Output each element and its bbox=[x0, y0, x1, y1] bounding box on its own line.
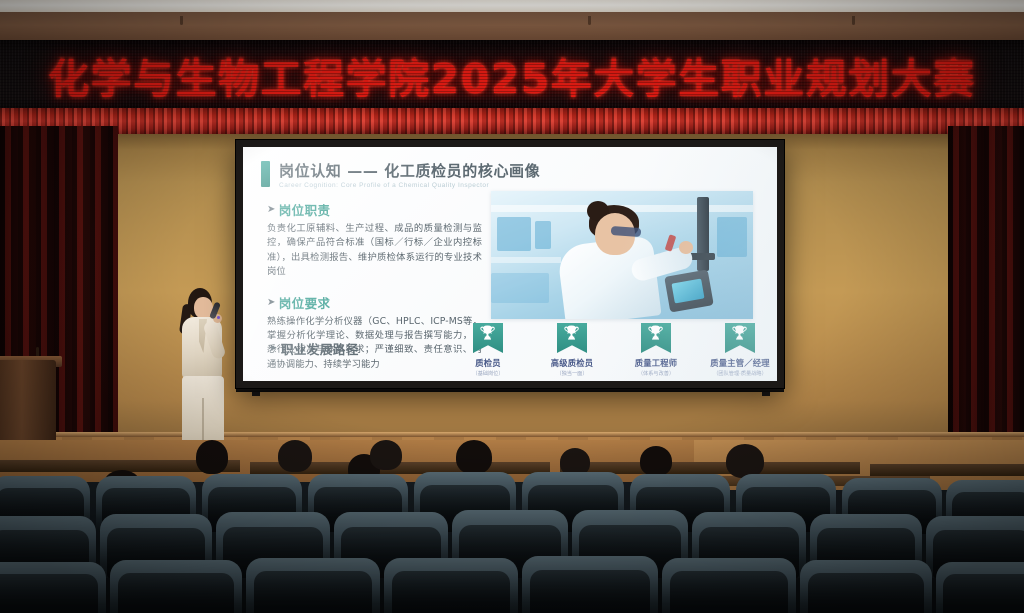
bullet-arrow-icon: ➤ bbox=[267, 297, 276, 308]
audience-seat bbox=[522, 556, 658, 613]
trophy-icon bbox=[725, 323, 755, 353]
career-stage: 高级质检员 （独当一面） bbox=[541, 323, 603, 377]
fascia-bolt bbox=[852, 16, 855, 25]
career-stage: 质量工程师 （体系与改善） bbox=[625, 323, 687, 377]
slide-header: 岗位认知 —— 化工质检员的核心画像 Career Cognition: Cor… bbox=[261, 160, 540, 189]
audience-seat bbox=[936, 562, 1024, 613]
audience-seat bbox=[246, 558, 380, 613]
audience-seat bbox=[662, 558, 796, 613]
audience-desk bbox=[870, 464, 1024, 476]
career-stage-label: 质检员 bbox=[457, 357, 519, 369]
banner-title: 化学与生物工程学院2025年大学生职业规划大赛 bbox=[0, 45, 1024, 105]
career-path-label: 职业发展路径 bbox=[281, 339, 359, 358]
audience-seat bbox=[110, 560, 242, 613]
audience-head bbox=[456, 440, 492, 474]
career-stage-sub: （独当一面） bbox=[541, 370, 603, 377]
lab-technician-photo bbox=[491, 191, 753, 319]
career-stage-sub: （体系与改善） bbox=[625, 370, 687, 377]
career-stage-sub: （基础岗位） bbox=[457, 370, 519, 377]
photo-hand bbox=[679, 241, 693, 254]
photo-shelf bbox=[491, 257, 561, 263]
red-valance bbox=[0, 108, 1024, 134]
title-accent-bar bbox=[261, 161, 270, 187]
slide-subtitle: Career Cognition: Core Profile of a Chem… bbox=[279, 182, 540, 189]
career-stage-sub: （团队管理·质量战略） bbox=[709, 370, 771, 377]
audience-head bbox=[726, 444, 764, 478]
audience-seat bbox=[0, 562, 106, 613]
slide-title: 岗位认知 —— 化工质检员的核心画像 bbox=[279, 160, 540, 181]
section-duties-label: 岗位职责 bbox=[279, 200, 331, 219]
career-stage: 质检员 （基础岗位） bbox=[457, 323, 519, 377]
trophy-icon bbox=[473, 323, 503, 353]
photo-equipment bbox=[497, 217, 531, 251]
auditorium-scene: 化学与生物工程学院2025年大学生职业规划大赛 岗位认知 bbox=[0, 0, 1024, 613]
audience-seat bbox=[384, 558, 518, 613]
section-requirements-label: 岗位要求 bbox=[279, 293, 331, 312]
section-duties-text: 负责化工原辅料、生产过程、成品的质量检测与监控，确保产品符合标准（国标／行标／企… bbox=[267, 222, 482, 280]
trophy-icon bbox=[557, 323, 587, 353]
audience-head bbox=[278, 440, 312, 472]
stage-edge bbox=[0, 432, 1024, 437]
microphone-led-indicator bbox=[217, 316, 220, 319]
slide: 岗位认知 —— 化工质检员的核心画像 Career Cognition: Cor… bbox=[243, 147, 777, 381]
career-path-heading: ➤ 职业发展路径 bbox=[269, 339, 359, 358]
photo-equipment bbox=[717, 217, 747, 257]
audience-head bbox=[196, 440, 228, 474]
section-heading-requirements: ➤ 岗位要求 bbox=[267, 293, 482, 312]
photo-bench bbox=[491, 273, 549, 303]
presentation-display[interactable]: 岗位认知 —— 化工质检员的核心画像 Career Cognition: Cor… bbox=[236, 140, 784, 388]
bullet-arrow-icon: ➤ bbox=[269, 343, 278, 354]
audience-head bbox=[640, 446, 672, 476]
career-stage-label: 高级质检员 bbox=[541, 357, 603, 369]
stage-curtain-right bbox=[948, 126, 1024, 456]
audience-seat bbox=[800, 560, 932, 613]
photo-equipment bbox=[535, 221, 551, 249]
career-path-stages: 质检员 （基础岗位） 高级质检员 （独当一面） 质量工程师 （体系与改善） 质量… bbox=[457, 323, 771, 377]
audience-head bbox=[370, 440, 402, 470]
ceiling-fascia bbox=[0, 12, 1024, 42]
fascia-bolt bbox=[588, 16, 591, 25]
audience-area bbox=[0, 440, 1024, 613]
led-banner: 化学与生物工程学院2025年大学生职业规划大赛 bbox=[0, 40, 1024, 110]
section-heading-duties: ➤ 岗位职责 bbox=[267, 200, 482, 219]
bullet-arrow-icon: ➤ bbox=[267, 204, 276, 215]
career-stage-label: 质量工程师 bbox=[625, 357, 687, 369]
trophy-icon bbox=[641, 323, 671, 353]
career-stage: 质量主管／经理 （团队管理·质量战略） bbox=[709, 323, 771, 377]
career-stage-label: 质量主管／经理 bbox=[709, 357, 771, 369]
fascia-bolt bbox=[180, 16, 183, 25]
